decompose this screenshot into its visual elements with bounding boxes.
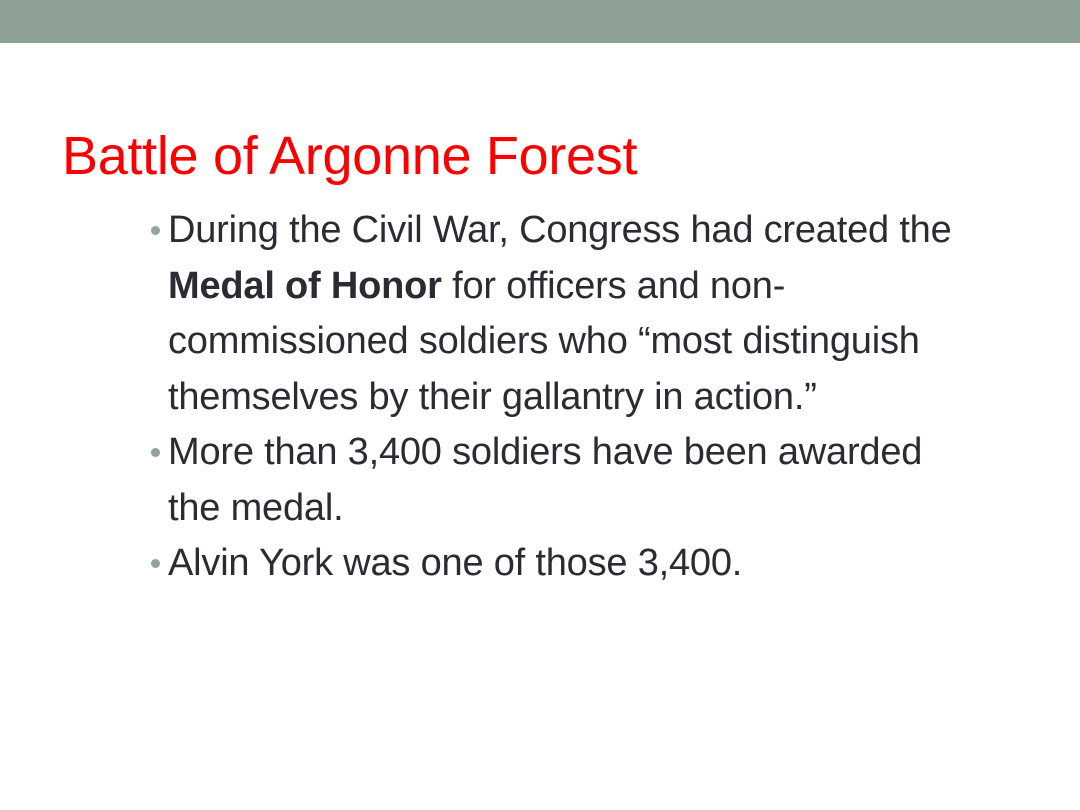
- bullet-list: During the Civil War, Congress had creat…: [150, 203, 980, 592]
- list-item: Alvin York was one of those 3,400.: [150, 536, 980, 592]
- page-title: Battle of Argonne Forest: [62, 124, 1022, 188]
- bullet-dot-icon: [151, 448, 160, 457]
- bullet-text-emphasis: Medal of Honor: [168, 265, 442, 307]
- bullet-dot-icon: [151, 559, 160, 568]
- bullet-text: Alvin York was one of those 3,400.: [168, 542, 742, 584]
- list-item: More than 3,400 soldiers have been award…: [150, 425, 980, 536]
- bullet-dot-icon: [151, 226, 160, 235]
- header-decorative-band: [0, 0, 1080, 43]
- list-item: During the Civil War, Congress had creat…: [150, 203, 980, 425]
- slide-canvas: Battle of Argonne Forest During the Civi…: [0, 0, 1080, 810]
- bullet-text-lead: During the Civil War, Congress had creat…: [168, 209, 952, 251]
- bullet-text: More than 3,400 soldiers have been award…: [168, 431, 922, 529]
